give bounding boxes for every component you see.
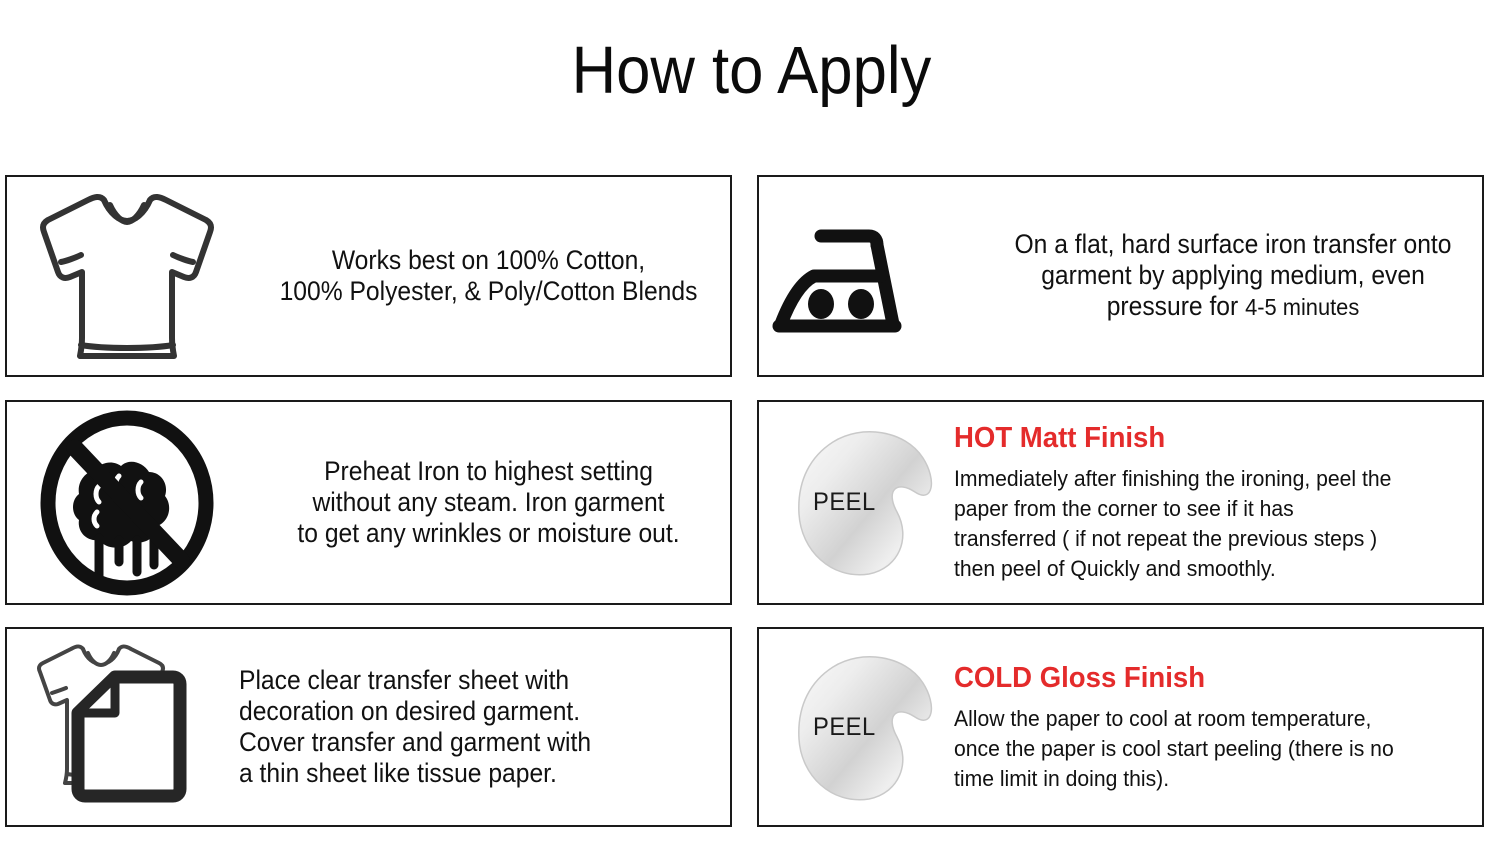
text-line: without any steam. Iron garment [264, 487, 713, 518]
peel-sticker-icon: PEEL [759, 629, 954, 825]
panel-place-sheet: Place clear transfer sheet with decorati… [5, 627, 732, 827]
text-line: paper from the corner to see if it has [954, 494, 1450, 524]
text-line: decoration on desired garment. [239, 696, 696, 727]
text-line: 100% Polyester, & Poly/Cotton Blends [264, 276, 713, 307]
page-title: How to Apply [60, 32, 1443, 110]
text-line: time limit in doing this). [954, 764, 1450, 794]
how-to-apply-infographic: How to Apply Works best on 100% Cotton, … [0, 0, 1503, 850]
text-line: to get any wrinkles or moisture out. [264, 518, 713, 549]
heading-keyword: HOT [954, 422, 1012, 454]
panel-iron-transfer: On a flat, hard surface iron transfer on… [757, 175, 1484, 377]
text-line: Cover transfer and garment with [239, 727, 696, 758]
panel-cold-peel: PEEL COLD Gloss Finish Allow the paper t… [757, 627, 1484, 827]
text-line: Allow the paper to cool at room temperat… [954, 704, 1450, 734]
text-line-duration: pressure for 4-5 minutes [1001, 291, 1464, 323]
panel-cold-peel-text: COLD Gloss Finish Allow the paper to coo… [954, 661, 1482, 794]
heading-rest: Matt Finish [1012, 422, 1165, 454]
panel-preheat: Preheat Iron to highest setting without … [5, 400, 732, 605]
tshirt-with-sheet-icon [7, 629, 239, 825]
heading-rest: Gloss Finish [1032, 662, 1205, 694]
hot-matt-finish-heading: HOT Matt Finish [954, 421, 1456, 455]
duration-prefix: pressure for [1107, 291, 1245, 321]
text-line: then peel of Quickly and smoothly. [954, 554, 1450, 584]
panel-place-sheet-text: Place clear transfer sheet with decorati… [239, 665, 730, 789]
text-line: once the paper is cool start peeling (th… [954, 734, 1450, 764]
tshirt-icon [7, 177, 247, 375]
text-line: Immediately after finishing the ironing,… [954, 464, 1450, 494]
cold-gloss-finish-heading: COLD Gloss Finish [954, 661, 1456, 695]
panel-fabric: Works best on 100% Cotton, 100% Polyeste… [5, 175, 732, 377]
no-steam-icon [7, 402, 247, 603]
panel-preheat-text: Preheat Iron to highest setting without … [247, 456, 730, 549]
panel-hot-peel: PEEL HOT Matt Finish Immediately after f… [757, 400, 1484, 605]
panel-hot-peel-text: HOT Matt Finish Immediately after finish… [954, 421, 1482, 584]
peel-label: PEEL [813, 713, 876, 742]
text-line: a thin sheet like tissue paper. [239, 758, 696, 789]
text-line: Preheat Iron to highest setting [264, 456, 713, 487]
panel-iron-transfer-text: On a flat, hard surface iron transfer on… [984, 229, 1482, 323]
text-line: Works best on 100% Cotton, [264, 245, 713, 276]
text-line: transferred ( if not repeat the previous… [954, 524, 1450, 554]
text-line: On a flat, hard surface iron transfer on… [1001, 229, 1464, 260]
heading-keyword: COLD [954, 662, 1032, 694]
peel-label: PEEL [813, 488, 876, 517]
duration-value: 4-5 minutes [1245, 294, 1359, 320]
peel-sticker-icon: PEEL [759, 402, 954, 603]
text-line: garment by applying medium, even [1001, 260, 1464, 291]
panel-fabric-text: Works best on 100% Cotton, 100% Polyeste… [247, 245, 730, 307]
text-line: Place clear transfer sheet with [239, 665, 696, 696]
iron-icon [759, 177, 984, 375]
